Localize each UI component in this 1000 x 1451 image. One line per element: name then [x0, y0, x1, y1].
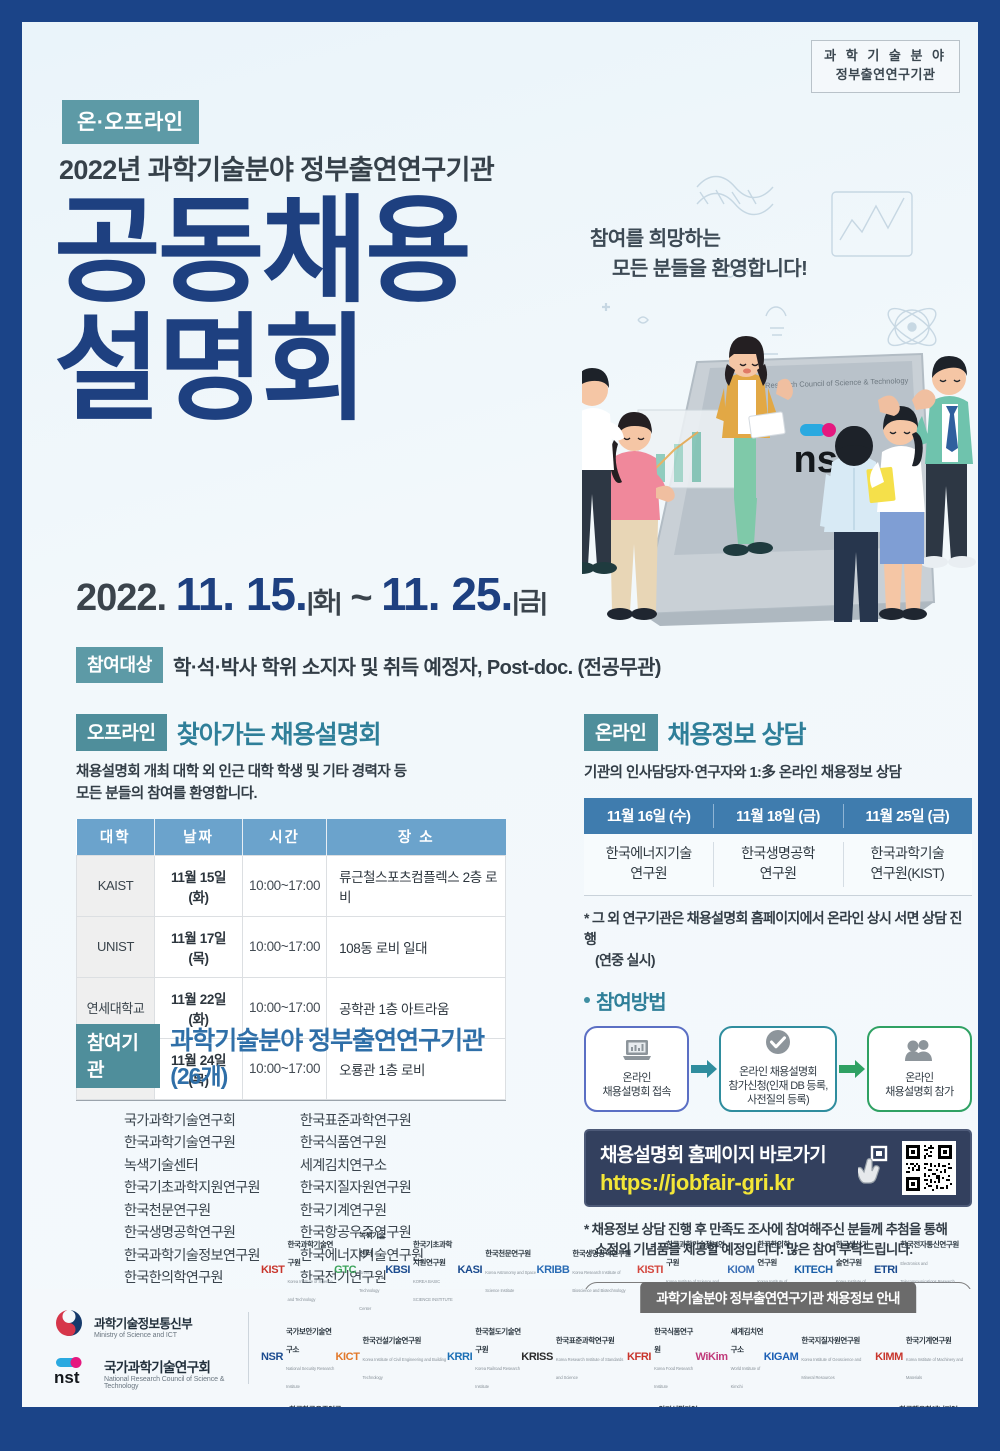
logo-kor: 한국천문연구원: [485, 1249, 531, 1258]
footer-logo-row-3: KARI 한국항공우주연구원Korea Aerospace Research I…: [261, 1399, 964, 1407]
list-item: 한국기초과학지원연구원: [124, 1177, 260, 1199]
target-text: 학·석·박사 학위 소지자 및 취득 예정자, Post-doc. (전공무관): [173, 651, 661, 680]
logo-kor: 한국식품연구원: [654, 1327, 693, 1354]
online-note-line1: * 그 외 연구기관은 채용설명회 홈페이지에서 온라인 상시 서면 상담 진행: [584, 910, 962, 947]
logo-eng: Korea Astronomy and Space Science Instit…: [485, 1270, 536, 1293]
logo-abbr: KFRI: [627, 1351, 651, 1363]
institution-logo: KIMM 한국기계연구원Korea Institute of Machinery…: [875, 1321, 964, 1393]
list-item: 한국생명공학연구원: [124, 1222, 260, 1244]
logo-abbr: KISTI: [637, 1264, 663, 1276]
qr-code-icon[interactable]: [902, 1141, 956, 1195]
institution-logo: KRRI 한국철도기술연구원Korea Railroad Research In…: [447, 1321, 521, 1393]
list-item: 한국천문연구원: [124, 1200, 260, 1222]
step-2-line2: 참가신청(인재 DB 등록,: [728, 1079, 827, 1093]
institution-logo: KFE 한국핵융합에너지연구원KOREA INSTITUTE OF FUSION…: [875, 1399, 964, 1407]
online-schedule-header: 11월 16일 (수) 11월 18일 (금) 11월 25일 (금): [584, 798, 972, 834]
logo-abbr: KRIBB: [537, 1264, 570, 1276]
table-header-row: 대학 날짜 시간 장 소: [77, 819, 506, 856]
nst-name: 국가과학기술연구회: [104, 1356, 236, 1376]
poster-title-line2: 설명회: [54, 310, 469, 428]
offline-description: 채용설명회 개최 대학 외 인근 대학 학생 및 기타 경력자 등 모든 분들의…: [76, 762, 506, 806]
logo-kor: 한국생산기술연구원: [836, 1240, 869, 1267]
list-item: 한국과학기술정보연구원: [124, 1245, 260, 1267]
logo-kor: 한국한의학연구원: [757, 1240, 790, 1267]
homepage-url[interactable]: https://jobfair-gri.kr: [600, 1170, 848, 1196]
online-note: * 그 외 연구기관은 채용설명회 홈페이지에서 온라인 상시 서면 상담 진행…: [584, 908, 972, 971]
logo-eng: National Security Research Institute: [286, 1366, 334, 1389]
logo-abbr: KRRI: [447, 1351, 472, 1363]
howto-label: 참여방법: [596, 986, 666, 1015]
logo-kor: 한국기초과학지원연구원: [413, 1240, 452, 1267]
cell-university: KAIST: [77, 855, 155, 916]
institution-logo: KIST 한국과학기술연구원Korea Institute of Science…: [261, 1225, 334, 1315]
logo-kor: 한국지질자원연구원: [801, 1336, 860, 1345]
logo-eng: Korea Research Institute of Standards an…: [556, 1357, 623, 1380]
col-university: 대학: [77, 819, 155, 856]
institutions-tag: 참여기관: [76, 1024, 160, 1088]
online-date-1: 11월 16일 (수): [584, 798, 713, 834]
institutions-title: 과학기술분야 정부출연연구기관(26개): [170, 1021, 506, 1091]
target-audience-row: 참여대상 학·석·박사 학위 소지자 및 취득 예정자, Post-doc. (…: [76, 647, 661, 683]
date-year: 2022.: [76, 577, 166, 619]
logo-abbr: ETRI: [874, 1264, 897, 1276]
online-section: 온라인 채용정보 상담 기관의 인사담당자·연구자와 1:多 온라인 채용정보 …: [584, 714, 972, 1384]
date-start: 11. 15.: [176, 568, 307, 620]
logo-kor: 세계김치연구소: [731, 1327, 764, 1354]
logo-kor: 한국건설기술연구원: [363, 1336, 422, 1345]
welcome-line2: 모든 분들을 환영합니다!: [590, 254, 807, 284]
svg-text:nst: nst: [54, 1368, 80, 1385]
bullet-dot-icon: [584, 997, 590, 1003]
welcome-line1: 참여를 희망하는: [590, 228, 720, 250]
target-tag: 참여대상: [76, 647, 163, 683]
logo-eng: World Institute of Kimchi: [731, 1366, 761, 1389]
logo-kor: 한국표준과학연구원: [556, 1336, 615, 1345]
logo-abbr: KICT: [335, 1351, 359, 1363]
step-3: 온라인 채용설명회 참가: [867, 1026, 972, 1112]
offline-desc-line2: 모든 분들의 참여를 환영합니다.: [76, 784, 506, 806]
people-icon: [905, 1038, 933, 1066]
step-2-line1: 온라인 채용설명회: [739, 1065, 817, 1079]
institution-logo: KERI 한국전기연구원Korea Electrotechnology Rese…: [440, 1399, 532, 1407]
laptop-chart-icon: [622, 1038, 652, 1066]
footer-primary-logos: 과학기술정보통신부 Ministry of Science and ICT ns…: [36, 1306, 236, 1390]
logo-kor: 한국핵융합에너지연구원: [899, 1405, 958, 1407]
institutions-heading: 참여기관 과학기술분야 정부출연연구기관(26개): [76, 1021, 506, 1091]
cell-date: 11월 15일(화): [155, 855, 243, 916]
top-badge-line1: 과 학 기 술 분 야: [824, 47, 947, 66]
logo-abbr: NSR: [261, 1351, 283, 1363]
online-schedule-row: 한국에너지기술 연구원 한국생명공학 연구원 한국과학기술 연구원(KIST): [584, 834, 972, 896]
hero-illustration: National Research Council of Science & T…: [582, 132, 978, 652]
logo-eng: Korea Food Research Institute: [654, 1366, 693, 1389]
logo-eng: Green Technology Center: [359, 1270, 379, 1311]
arrow-2-icon: [837, 1060, 866, 1078]
arrow-1-icon: [689, 1060, 718, 1078]
footer-institution-logos: KIST 한국과학기술연구원Korea Institute of Science…: [261, 1225, 964, 1407]
col-time: 시간: [243, 819, 327, 856]
cell-place: 류근철스포츠컴플렉스 2층 로비: [327, 855, 506, 916]
event-date-range: 2022. 11. 15.|화| ~ 11. 25.|금|: [76, 567, 546, 621]
institution-logo: KFRI 한국식품연구원Korea Food Research Institut…: [627, 1321, 696, 1393]
institution-logo: KRISS 한국표준과학연구원Korea Research Institute …: [521, 1321, 627, 1393]
logo-abbr: KBSI: [385, 1264, 410, 1276]
poster-canvas: 과 학 기 술 분 야 정부출연연구기관 National Rese: [22, 22, 978, 1407]
logo-kor: 한국항공우주연구원: [289, 1405, 341, 1407]
offline-title: 찾아가는 채용설명회: [177, 715, 381, 751]
logo-abbr: KIOM: [727, 1264, 754, 1276]
step-3-line2: 채용설명회 참가: [885, 1085, 953, 1099]
institution-logo: KIER 한국에너지기술연구원KOREA INSTITUTE OF ENERGY…: [342, 1399, 440, 1407]
institution-logo: KRIBB 한국생명공학연구원Korea Research Institute …: [537, 1225, 637, 1315]
logo-kor: 국가보안기술연구소: [286, 1327, 332, 1354]
institution-logo: KIMS 한국재료연구원Korea Institute of Materials…: [795, 1399, 875, 1407]
institution-logo: KAERI 한국원자력연구원Korea Atomic Energy Resear…: [702, 1399, 795, 1407]
list-item: 세계김치연구소: [300, 1155, 436, 1177]
poster-title-line1: 공동채용: [54, 186, 469, 316]
homepage-link-box[interactable]: 채용설명회 홈페이지 바로가기 https://jobfair-gri.kr: [584, 1129, 972, 1207]
offline-heading: 오프라인 찾아가는 채용설명회: [76, 714, 506, 751]
onoff-tag: 온·오프라인: [62, 100, 199, 144]
logo-kor: 한국기계연구원: [906, 1336, 952, 1345]
logo-kor: 한국과학기술정보연구원: [666, 1240, 725, 1267]
list-item: 녹색기술센터: [124, 1155, 260, 1177]
poster-subtitle: 2022년 과학기술분야 정부출연연구기관: [59, 148, 494, 187]
participation-steps: 온라인 채용설명회 접속 온라인 채용설명회 참가신청(인재 DB 등록, 사전…: [584, 1026, 972, 1112]
logo-abbr: KASI: [458, 1264, 483, 1276]
homepage-link-title: 채용설명회 홈페이지 바로가기: [600, 1140, 848, 1167]
welcome-message: 참여를 희망하는 모든 분들을 환영합니다!: [590, 224, 807, 284]
online-org-3: 한국과학기술 연구원(KIST): [843, 834, 972, 895]
taegeuk-icon: [52, 1306, 86, 1345]
logo-abbr: KIGAM: [764, 1351, 799, 1363]
institutions-count: (26개): [170, 1063, 227, 1089]
nst-logo: nst 국가과학기술연구회 National Research Council …: [52, 1356, 236, 1390]
step-2: 온라인 채용설명회 참가신청(인재 DB 등록, 사전질의 등록): [719, 1026, 838, 1112]
online-heading: 온라인 채용정보 상담: [584, 714, 972, 751]
footer-logo-row-2: NSR 국가보안기술연구소National Security Research …: [261, 1321, 964, 1393]
logo-abbr: GTC: [334, 1264, 356, 1276]
cell-time: 10:00~17:00: [243, 916, 327, 977]
online-org-1: 한국에너지기술 연구원: [584, 834, 713, 895]
logo-kor: 안전성평가연구소: [659, 1405, 698, 1407]
top-badge: 과 학 기 술 분 야 정부출연연구기관: [811, 40, 960, 93]
online-description: 기관의 인사담당자·연구자와 1:多 온라인 채용정보 상담: [584, 763, 972, 785]
logo-abbr: KIST: [261, 1264, 284, 1276]
step-1: 온라인 채용설명회 접속: [584, 1026, 689, 1112]
institution-logo: KBSI 한국기초과학지원연구원KOREA BASIC SCIENCE INST…: [385, 1225, 457, 1315]
logo-kor: 한국전자통신연구원: [900, 1240, 959, 1249]
list-item: 국가과학기술연구회: [124, 1110, 260, 1132]
logo-eng: KOREA BASIC SCIENCE INSTITUTE: [413, 1279, 453, 1302]
recruit-info-tab: 과학기술분야 정부출연연구기관 채용정보 안내: [640, 1282, 916, 1313]
ministry-name-en: Ministry of Science and ICT: [94, 1332, 192, 1339]
online-org-2: 한국생명공학 연구원: [713, 834, 842, 895]
online-title: 채용정보 상담: [668, 715, 806, 751]
list-item: 한국지질자원연구원: [300, 1177, 436, 1199]
logo-eng: Korea Railroad Research Institute: [475, 1366, 520, 1389]
check-circle-icon: [765, 1029, 791, 1059]
cell-place: 108동 로비 일대: [327, 916, 506, 977]
offline-tag: 오프라인: [76, 714, 167, 751]
step-1-line2: 채용설명회 접속: [603, 1085, 671, 1099]
ministry-name: 과학기술정보통신부: [94, 1313, 192, 1332]
institution-logo: KIT 안전성평가연구소Korea Institute of Toxicolog…: [639, 1399, 702, 1407]
list-item: 한국한의학연구원: [124, 1267, 260, 1289]
list-item: 한국식품연구원: [300, 1132, 436, 1154]
online-tag: 온라인: [584, 714, 658, 751]
online-date-3: 11월 25일 (금): [843, 798, 972, 834]
institution-logo: WiKim 세계김치연구소World Institute of Kimchi: [696, 1321, 764, 1393]
logo-kor: 한국생명공학연구원: [572, 1249, 631, 1258]
cell-time: 10:00~17:00: [243, 855, 327, 916]
institution-logo: NSR 국가보안기술연구소National Security Research …: [261, 1321, 335, 1393]
nst-name-en: National Research Council of Science & T…: [104, 1376, 236, 1390]
institutions-title-text: 과학기술분야 정부출연연구기관: [170, 1027, 484, 1055]
logo-eng: Korea Institute of Machinery and Materia…: [906, 1357, 963, 1380]
cell-university: UNIST: [77, 916, 155, 977]
logo-eng: Korea Institute of Civil Engineering and…: [363, 1357, 447, 1380]
table-row: KAIST 11월 15일(화) 10:00~17:00 류근철스포츠컴플렉스 …: [77, 855, 506, 916]
footer-divider: [248, 1312, 249, 1384]
institution-logo: GTC 녹색기술센터Green Technology Center: [334, 1225, 385, 1315]
hand-click-icon: [858, 1145, 892, 1190]
date-start-day: |화|: [307, 588, 341, 616]
offline-desc-line1: 채용설명회 개최 대학 외 인근 대학 학생 및 기타 경력자 등: [76, 762, 506, 784]
logo-eng: Korea Institute of Science and Technolog…: [287, 1279, 332, 1302]
logo-kor: 한국과학기술연구원: [287, 1240, 333, 1267]
step-2-line3: 사전질의 등록): [747, 1093, 809, 1107]
institution-logo: KRICT 한국화학연구원Korea Research Institute of…: [532, 1399, 639, 1407]
top-badge-line2: 정부출연연구기관: [824, 66, 947, 85]
table-row: UNIST 11월 17일(목) 10:00~17:00 108동 로비 일대: [77, 916, 506, 977]
logo-abbr: WiKim: [696, 1351, 728, 1363]
logo-abbr: KIMM: [875, 1351, 903, 1363]
online-date-2: 11월 18일 (금): [713, 798, 842, 834]
institution-logo: KIGAM 한국지질자원연구원Korea Institute of Geosci…: [764, 1321, 875, 1393]
list-item: 한국표준과학연구원: [300, 1110, 436, 1132]
logo-eng: Korea Research Institute of Bioscience a…: [572, 1270, 625, 1293]
date-end-day: |금|: [512, 588, 546, 616]
logo-abbr: KRISS: [521, 1351, 553, 1363]
date-end: 11. 25.: [381, 568, 512, 620]
logo-kor: 녹색기술센터: [359, 1231, 385, 1258]
ministry-logo: 과학기술정보통신부 Ministry of Science and ICT: [52, 1306, 236, 1345]
col-place: 장 소: [327, 819, 506, 856]
step-3-line1: 온라인: [905, 1071, 933, 1085]
institution-logo: KICT 한국건설기술연구원Korea Institute of Civil E…: [335, 1321, 447, 1393]
cell-date: 11월 17일(목): [155, 916, 243, 977]
poster-title: 공동채용 설명회: [54, 192, 469, 429]
list-item: 한국과학기술연구원: [124, 1132, 260, 1154]
logo-abbr: KITECH: [794, 1264, 833, 1276]
col-date: 날짜: [155, 819, 243, 856]
logo-kor: 한국철도기술연구원: [475, 1327, 521, 1354]
howto-heading: 참여방법: [584, 986, 972, 1015]
online-note-line2: (연중 실시): [584, 950, 972, 971]
logo-eng: Korea Institute of Geoscience and Minera…: [801, 1357, 861, 1380]
list-item: 한국기계연구원: [300, 1200, 436, 1222]
step-1-line1: 온라인: [623, 1071, 651, 1085]
date-tilde: ~: [350, 577, 371, 619]
institution-logo: KASI 한국천문연구원Korea Astronomy and Space Sc…: [458, 1225, 537, 1315]
institution-logo: KARI 한국항공우주연구원Korea Aerospace Research I…: [261, 1399, 342, 1407]
